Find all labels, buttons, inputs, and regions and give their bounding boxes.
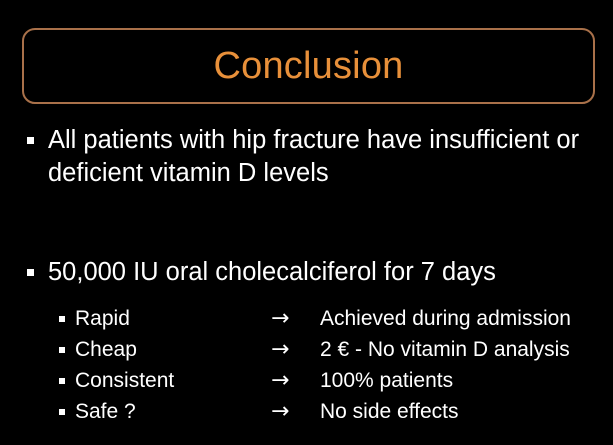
sub-item-value: No side effects (306, 396, 613, 427)
bullet-item-1: All patients with hip fracture have insu… (0, 124, 613, 190)
sub-item-value: 2 € - No vitamin D analysis (306, 334, 613, 365)
square-bullet-icon (59, 409, 65, 415)
arrow-right-icon: → (271, 365, 289, 396)
sub-item-label-cell: Consistent (0, 365, 271, 396)
sub-item-arrow-cell: → (271, 365, 306, 396)
table-row: Consistent → 100% patients (0, 365, 613, 396)
square-bullet-icon (59, 316, 65, 322)
slide-body: All patients with hip fracture have insu… (0, 124, 613, 427)
sub-item-label-cell: Safe ? (0, 396, 271, 427)
presentation-slide: Conclusion All patients with hip fractur… (0, 0, 613, 445)
sub-item-arrow-cell: → (271, 303, 306, 334)
table-row: Safe ? → No side effects (0, 396, 613, 427)
arrow-right-icon: → (271, 396, 289, 427)
sub-item-arrow-cell: → (271, 396, 306, 427)
sub-item-value: Achieved during admission (306, 303, 613, 334)
bullet-item-2: 50,000 IU oral cholecalciferol for 7 day… (0, 256, 613, 289)
sub-item-label: Consistent (75, 369, 174, 392)
sub-item-value: 100% patients (306, 365, 613, 396)
sub-bullet-table: Rapid → Achieved during admission Cheap … (0, 303, 613, 427)
square-bullet-icon (59, 378, 65, 384)
sub-item-label: Safe ? (75, 400, 136, 423)
square-bullet-icon (59, 347, 65, 353)
square-bullet-icon (27, 137, 34, 144)
table-row: Cheap → 2 € - No vitamin D analysis (0, 334, 613, 365)
slide-title-box: Conclusion (22, 28, 595, 104)
sub-item-label-cell: Rapid (0, 303, 271, 334)
sub-item-label: Rapid (75, 307, 130, 330)
page-title: Conclusion (214, 47, 404, 85)
table-row: Rapid → Achieved during admission (0, 303, 613, 334)
square-bullet-icon (27, 269, 34, 276)
arrow-right-icon: → (271, 303, 289, 334)
sub-item-label-cell: Cheap (0, 334, 271, 365)
body-spacer (0, 190, 613, 256)
arrow-right-icon: → (271, 334, 289, 365)
bullet-item-2-text: 50,000 IU oral cholecalciferol for 7 day… (48, 258, 496, 286)
sub-item-arrow-cell: → (271, 334, 306, 365)
bullet-item-1-text: All patients with hip fracture have insu… (48, 126, 579, 187)
sub-item-label: Cheap (75, 338, 137, 361)
